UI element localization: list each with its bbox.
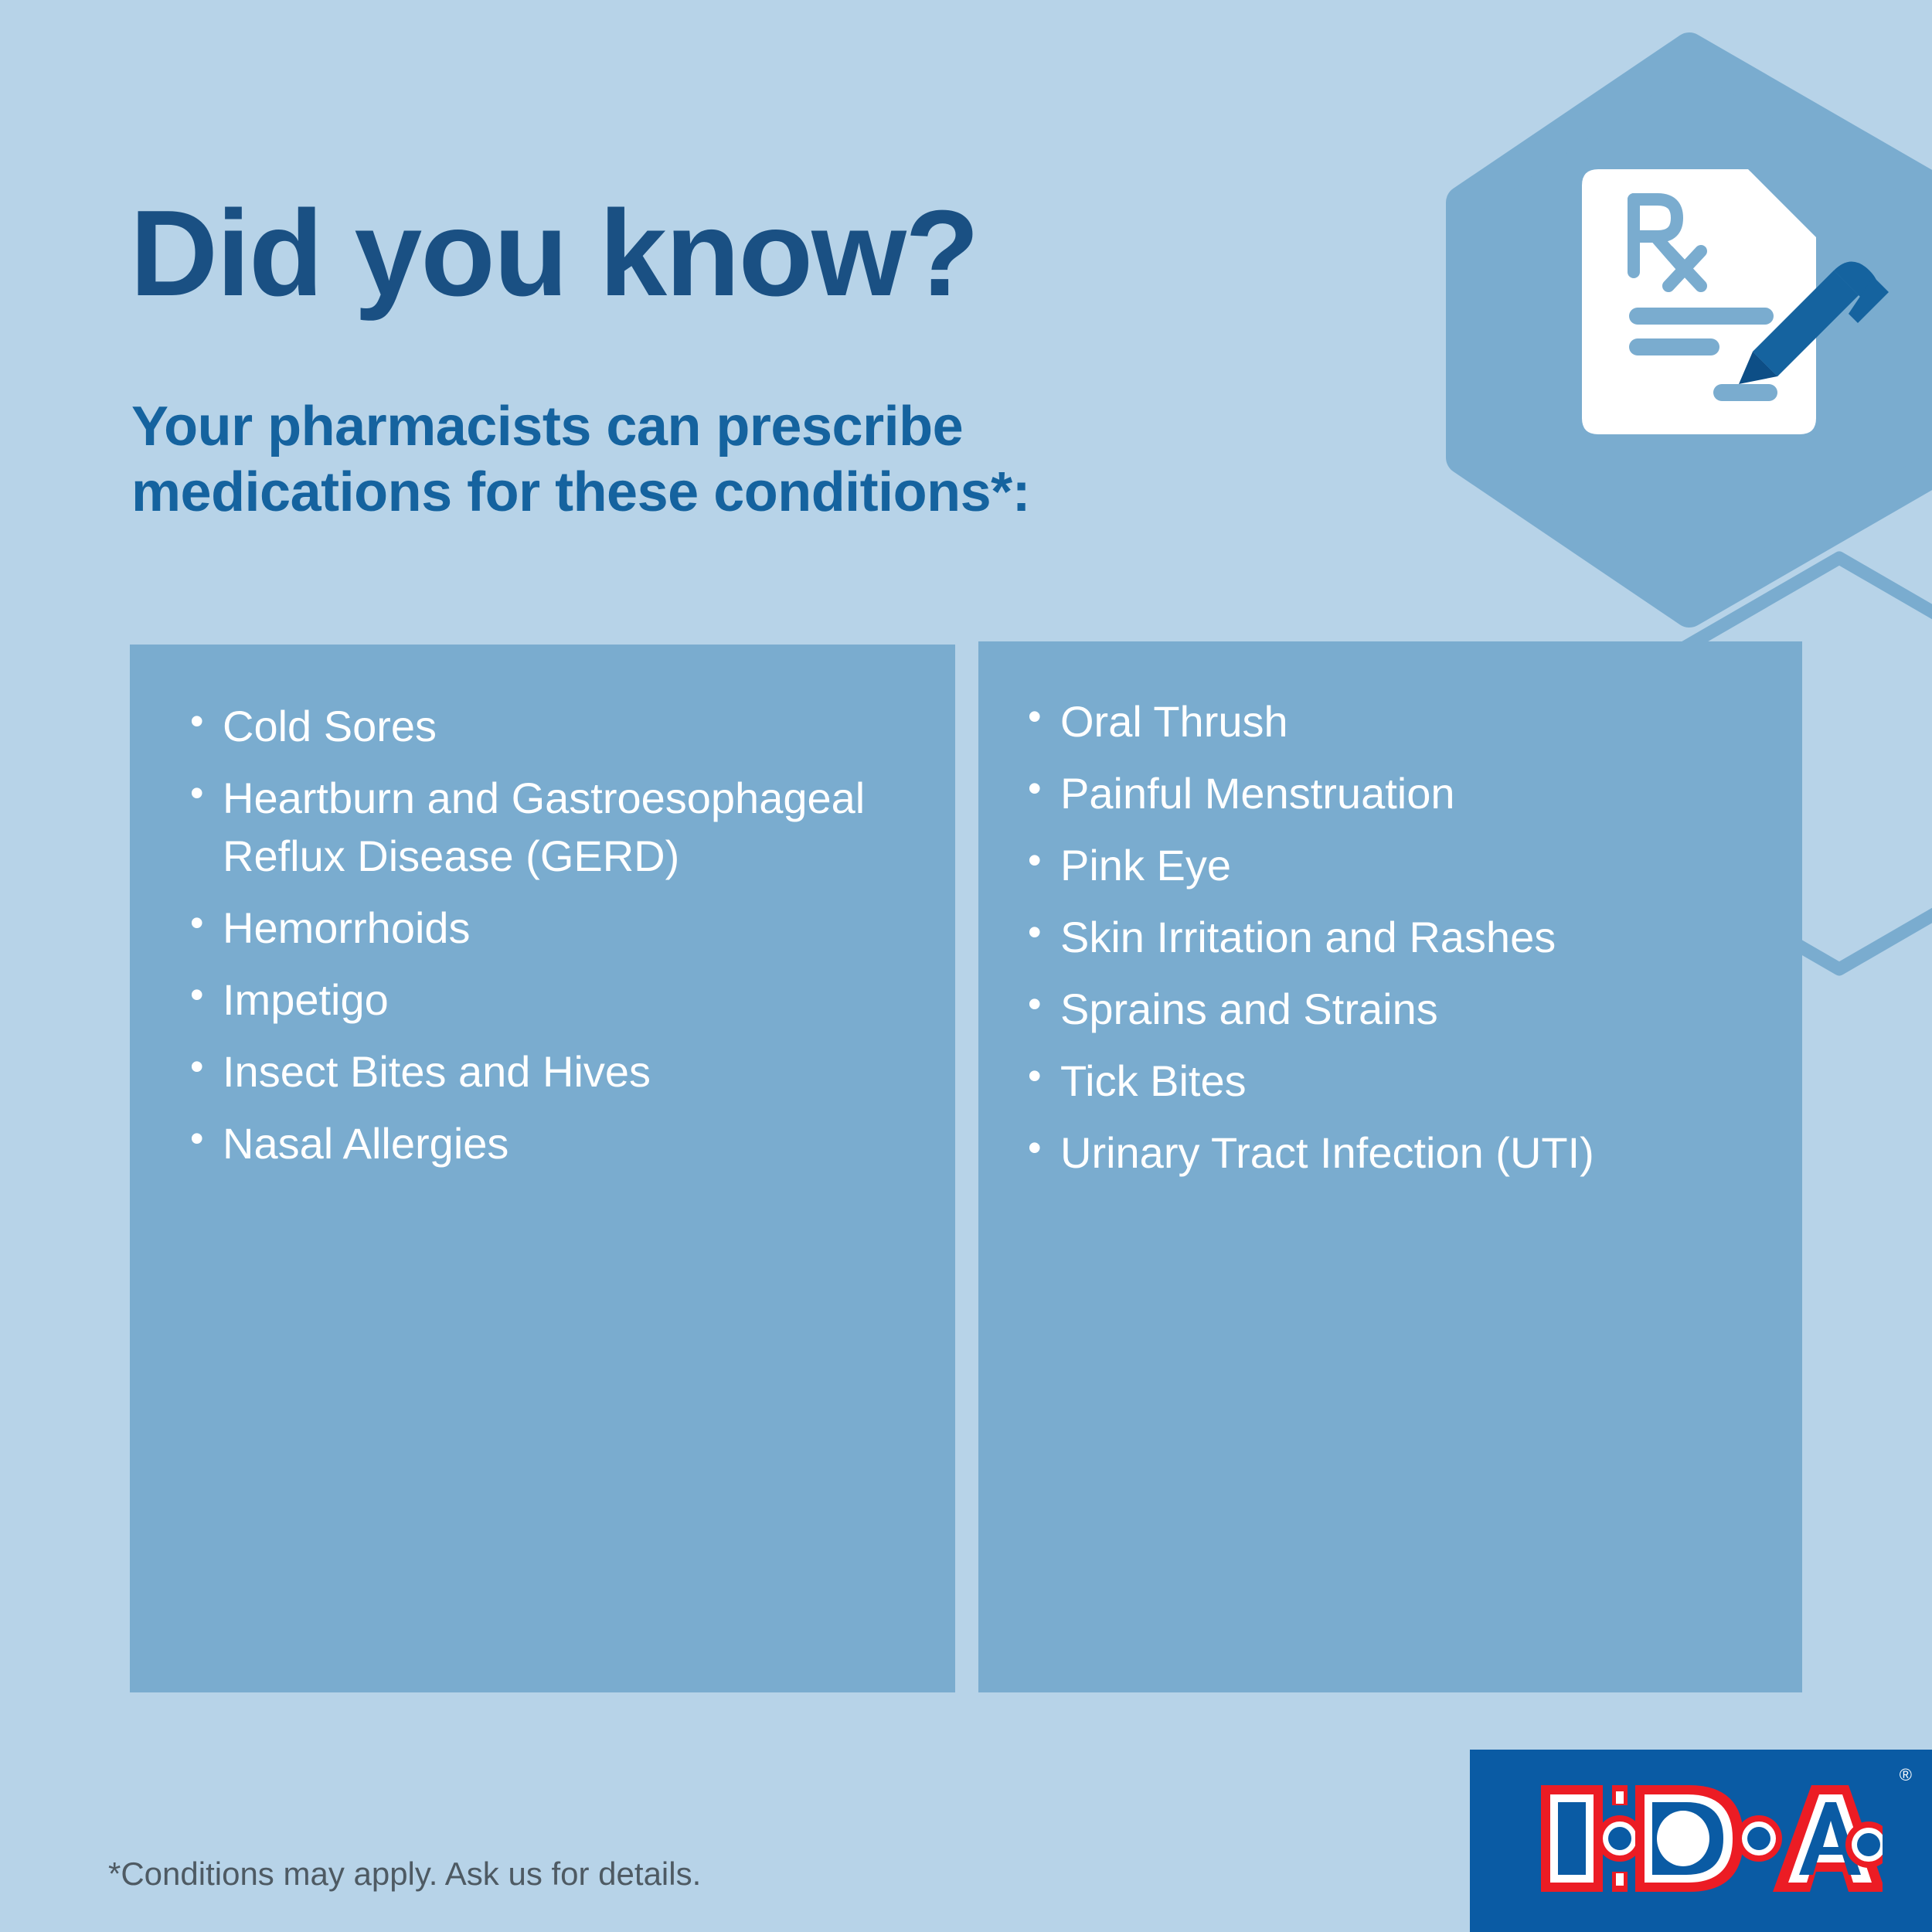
- list-item: Urinary Tract Infection (UTI): [1026, 1124, 1771, 1182]
- list-item: Insect Bites and Hives: [189, 1043, 924, 1100]
- hexagon-filled-icon: [1463, 49, 1932, 611]
- footnote-disclaimer: *Conditions may apply. Ask us for detail…: [108, 1855, 701, 1893]
- list-item: Nasal Allergies: [189, 1114, 924, 1172]
- ida-logo: ®: [1470, 1750, 1932, 1932]
- list-item: Painful Menstruation: [1026, 764, 1771, 822]
- conditions-list-left: Cold Sores Heartburn and Gastroesophagea…: [130, 645, 955, 1172]
- list-item: Sprains and Strains: [1026, 980, 1771, 1038]
- list-item: Oral Thrush: [1026, 692, 1771, 750]
- list-item: Hemorrhoids: [189, 899, 924, 957]
- registered-trademark-icon: ®: [1900, 1767, 1912, 1784]
- list-item: Cold Sores: [189, 697, 924, 755]
- list-item: Impetigo: [189, 971, 924, 1029]
- ida-wordmark-icon: [1536, 1781, 1883, 1896]
- list-item: Pink Eye: [1026, 836, 1771, 894]
- conditions-list-right: Oral Thrush Painful Menstruation Pink Ey…: [978, 641, 1802, 1182]
- page-title: Did you know?: [130, 190, 1289, 318]
- rx-symbol-icon: [1634, 199, 1701, 286]
- conditions-column-right: Oral Thrush Painful Menstruation Pink Ey…: [978, 641, 1802, 1692]
- list-item: Skin Irritation and Rashes: [1026, 908, 1771, 966]
- infographic-poster: Did you know? Your pharmacists can presc…: [0, 0, 1932, 1932]
- subtitle-line-2: medications for these conditions*:: [131, 460, 1337, 526]
- subtitle-line-1: Your pharmacists can prescribe: [131, 394, 1337, 460]
- list-item: Tick Bites: [1026, 1052, 1771, 1110]
- page-subtitle: Your pharmacists can prescribe medicatio…: [131, 394, 1337, 526]
- conditions-column-left: Cold Sores Heartburn and Gastroesophagea…: [130, 645, 955, 1692]
- pen-icon: [1739, 262, 1889, 385]
- list-item: Heartburn and Gastroesophageal Reflux Di…: [189, 769, 924, 885]
